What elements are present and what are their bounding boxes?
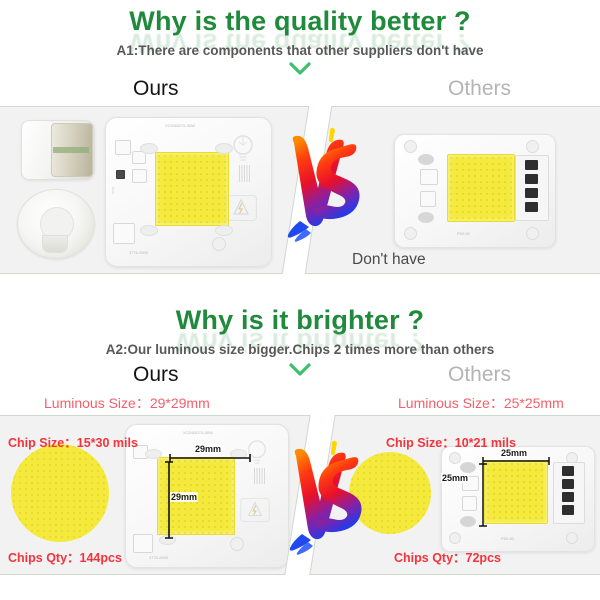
terminal-slot	[562, 492, 574, 502]
mounting-hole	[449, 532, 461, 544]
light-bulb-icon	[230, 133, 256, 163]
others-note-quality: Don't have	[352, 251, 426, 269]
chip-size-ours: Chip Size：15*30 mils	[8, 432, 138, 451]
contact-pad	[460, 516, 476, 527]
chip-marking-bottom-2: 3776.2505	[149, 555, 168, 560]
chip-marking-bottom-others-2: P50-60	[501, 536, 514, 541]
solder-pad	[420, 169, 438, 185]
mounting-hole	[404, 227, 417, 240]
chip-marking-top: XCD50DT5-30W	[165, 123, 195, 128]
mounting-hole	[566, 532, 578, 544]
section-title-brightness: Why is it brighter ? Why is it brighter …	[0, 305, 600, 336]
terminal-slot	[562, 505, 574, 515]
chip-marking-bottom: 3776.2505	[129, 250, 148, 255]
label-others-section2: Others	[448, 363, 511, 387]
mounting-hole	[230, 537, 244, 551]
chevron-down-icon-2	[289, 363, 311, 377]
section-subtitle-quality: A1:There are components that other suppl…	[0, 43, 600, 58]
contact-pad	[418, 154, 434, 165]
solder-pad	[115, 140, 131, 155]
chip-marking-bottom-others: P50-60	[457, 231, 470, 236]
terminal-slot	[562, 479, 574, 489]
mounting-hole	[449, 452, 461, 464]
solder-pad	[132, 169, 147, 183]
chevron-down-icon	[289, 62, 311, 76]
solder-pad	[420, 191, 436, 207]
luminous-size-others: Luminous Size：25*25mm	[398, 393, 564, 413]
barcode-mark-2	[254, 468, 265, 484]
terminal-slot	[525, 174, 538, 184]
section-title-quality: Why is the quality better ? Why is the q…	[0, 6, 600, 37]
terminal-slot	[562, 466, 574, 476]
cob-emitter-surface-others-2	[484, 460, 548, 524]
infographic-page: Why is the quality better ? Why is the q…	[0, 0, 600, 600]
dimension-width-label-ours: 29mm	[194, 444, 222, 454]
solder-pad	[462, 496, 477, 511]
mounting-hole	[212, 237, 226, 251]
cob-emitter-surface-ours	[155, 152, 229, 226]
smd-component	[116, 170, 125, 179]
package-notch	[140, 225, 158, 236]
label-others-section1: Others	[448, 77, 511, 101]
terminal-slot	[525, 202, 538, 212]
dimension-height-label-ours: 29mm	[170, 492, 198, 502]
cob-emitter-surface-others	[447, 154, 515, 222]
cob-emitter-round-ours	[11, 444, 109, 542]
luminous-size-ours: Luminous Size：29*29mm	[44, 393, 210, 413]
coil-lead	[42, 235, 68, 253]
section-title-brightness-text: Why is it brighter ?	[176, 305, 425, 335]
package-notch	[145, 449, 162, 459]
high-voltage-warning-icon-2	[240, 498, 270, 522]
label-ours-section2: Ours	[133, 363, 179, 387]
barcode-mark	[239, 165, 251, 182]
chips-qty-ours: Chips Qty：144pcs	[8, 547, 122, 566]
solder-pad	[113, 223, 135, 244]
mounting-hole	[526, 140, 539, 153]
mounting-hole	[526, 227, 539, 240]
mounting-hole	[404, 140, 417, 153]
vs-badge-section2	[288, 438, 362, 568]
terminal-slot	[525, 188, 538, 198]
contact-pad	[418, 212, 434, 223]
dimension-height-label-others: 25mm	[441, 473, 469, 483]
chip-marking-top-2: XCD50DT5-30W	[183, 430, 213, 435]
contact-pad	[460, 462, 476, 473]
package-notch	[140, 143, 158, 154]
solder-pad	[133, 534, 153, 553]
chip-size-others: Chip Size：10*21 mils	[386, 432, 516, 451]
vs-badge-section1	[286, 125, 360, 255]
chips-qty-others: Chips Qty：72pcs	[394, 547, 501, 566]
dimension-height-others	[477, 462, 489, 528]
section-title-quality-text: Why is the quality better ?	[129, 6, 470, 36]
label-ours-section1: Ours	[133, 77, 179, 101]
panel-ours-quality: XCD50DT5-30W 3776.2505 ••••••	[0, 106, 309, 274]
driver-component-band	[53, 147, 89, 153]
section-subtitle-brightness: A2:Our luminous size bigger.Chips 2 time…	[0, 342, 600, 357]
high-voltage-warning-icon	[225, 195, 257, 221]
package-notch	[215, 225, 233, 236]
terminal-slot	[525, 160, 538, 170]
